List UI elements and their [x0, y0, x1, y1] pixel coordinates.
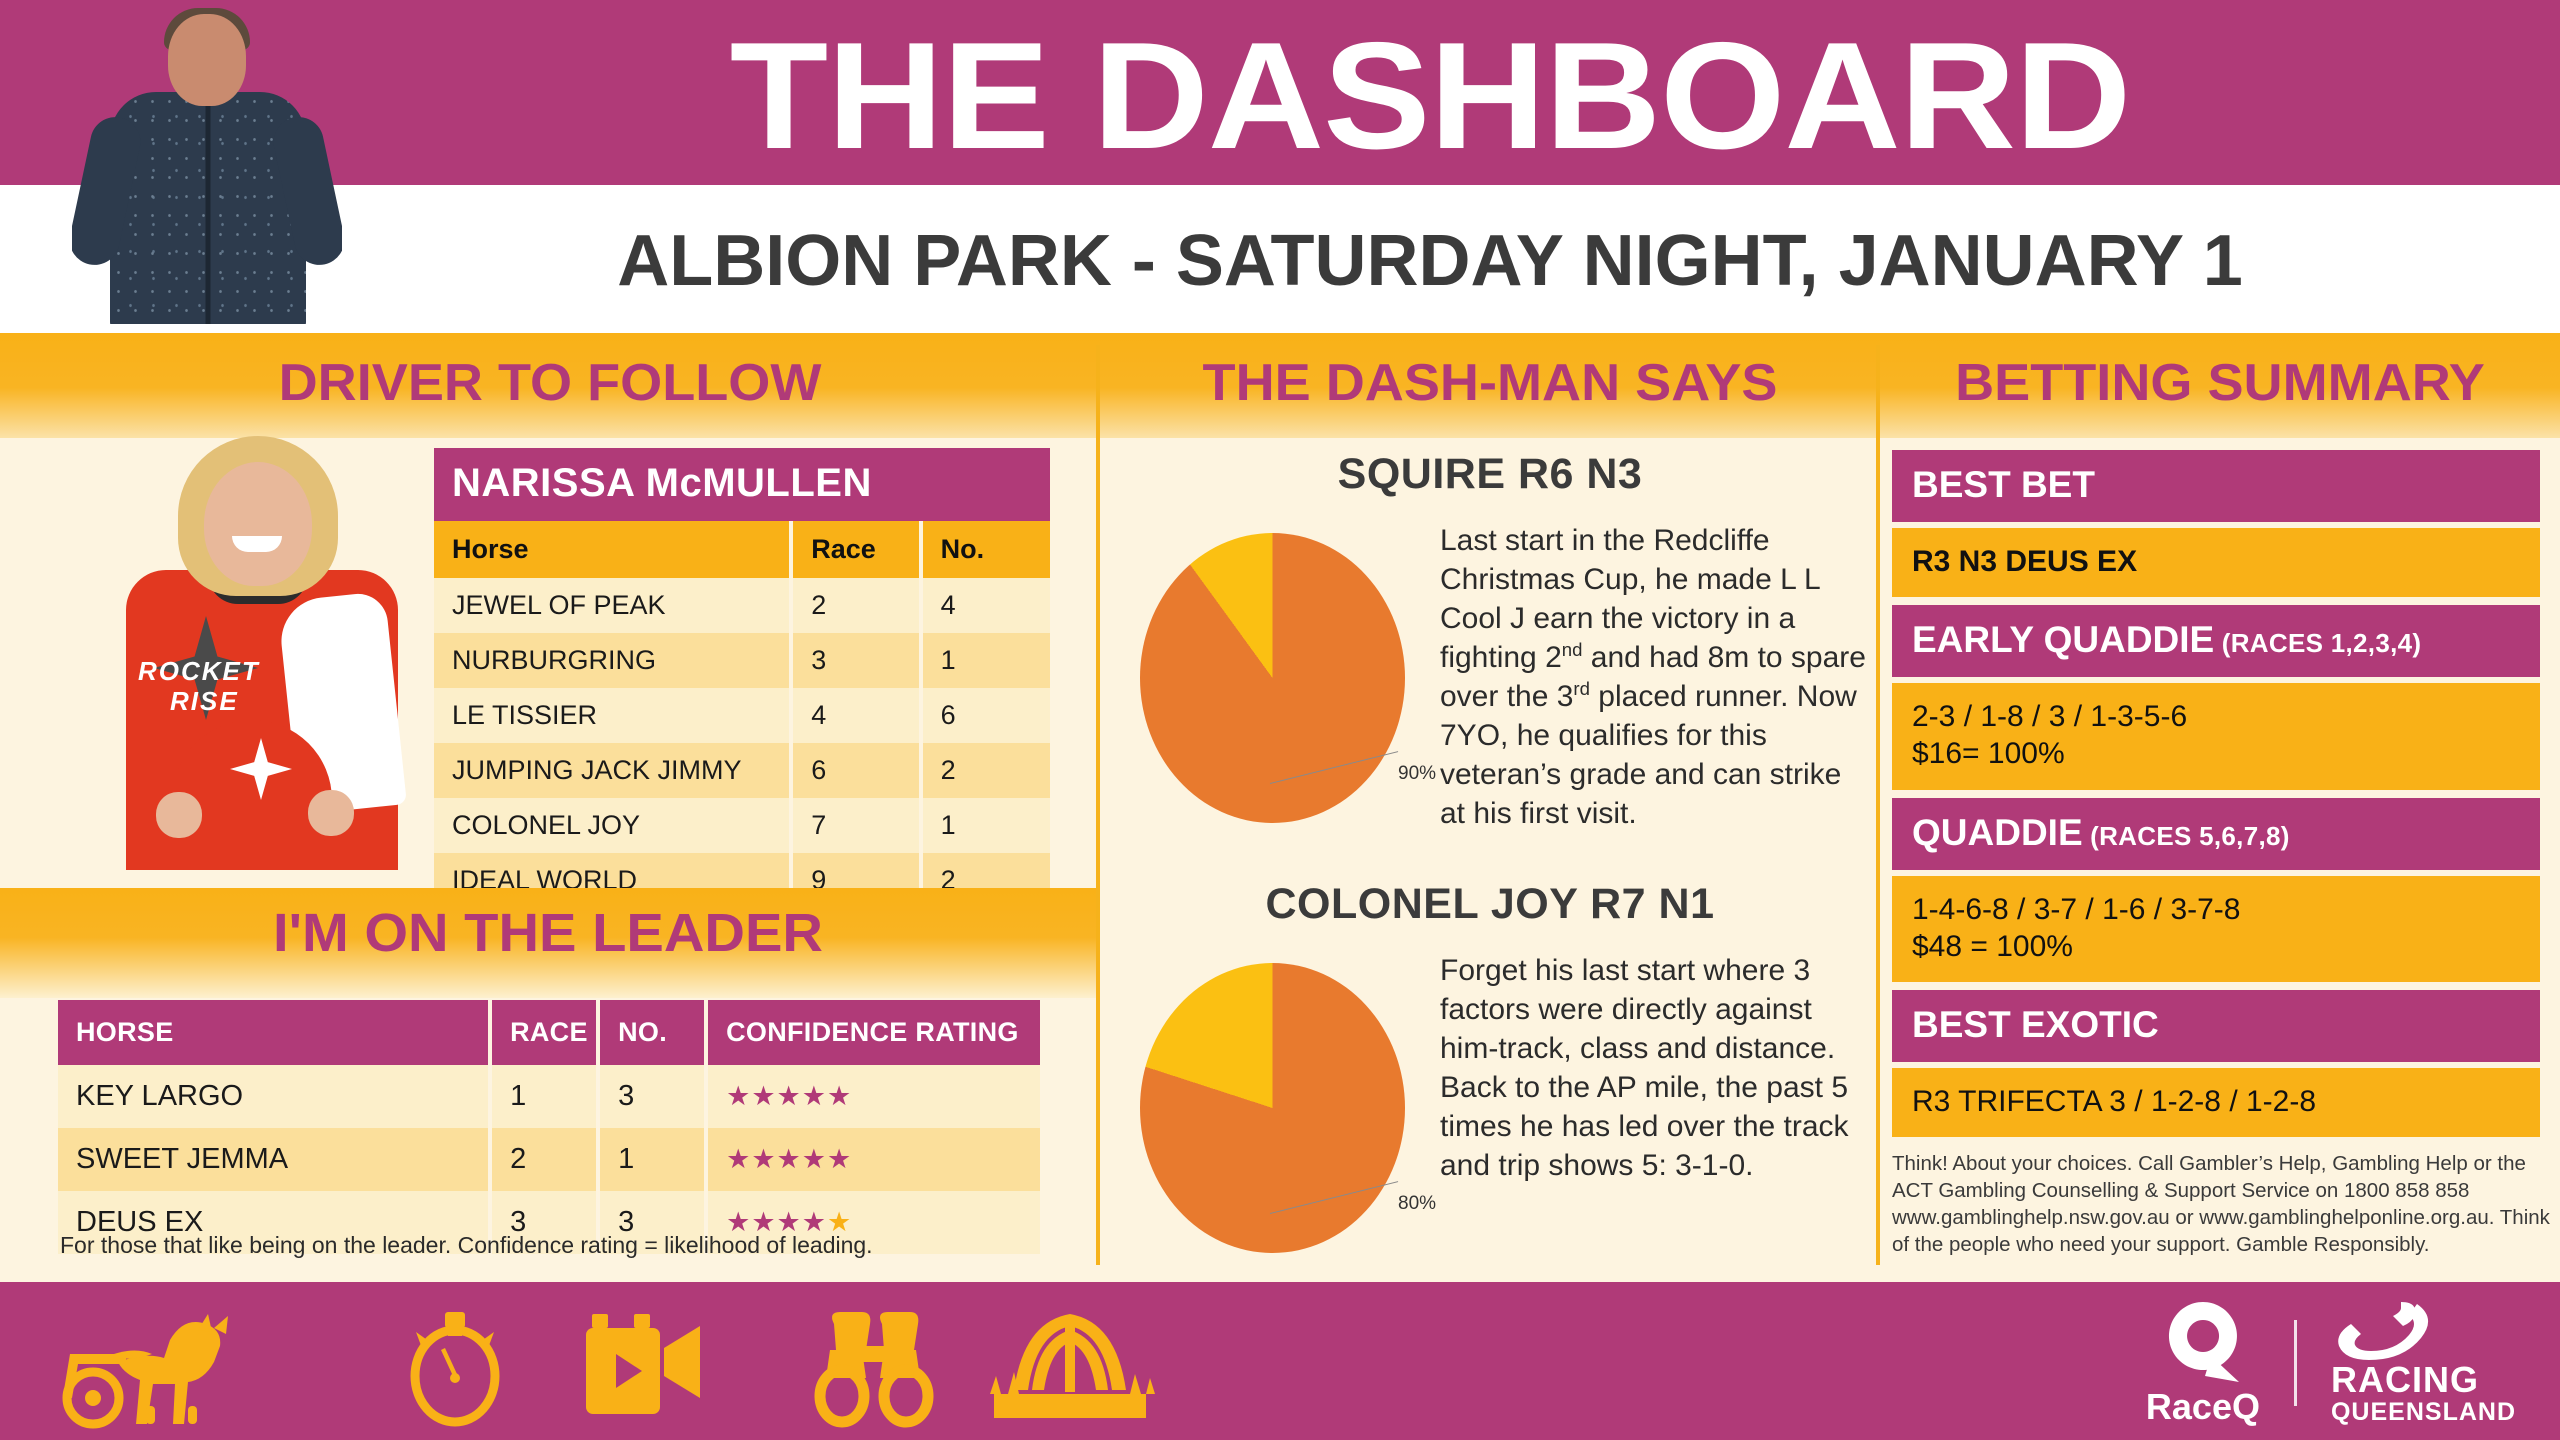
table-header-row: HORSE RACE NO. CONFIDENCE RATING	[58, 1000, 1040, 1065]
cell-race: 2	[490, 1128, 598, 1191]
video-camera-icon	[576, 1310, 726, 1430]
binoculars-icon	[800, 1310, 950, 1430]
cell-horse: SWEET JEMMA	[58, 1128, 490, 1191]
betting-block-title: EARLY QUADDIE	[1912, 619, 2214, 660]
leader-card: HORSE RACE NO. CONFIDENCE RATING KEY LAR…	[58, 1000, 1040, 1254]
cell-horse: NURBURGRING	[434, 633, 791, 688]
leader-note: For those that like being on the leader.…	[60, 1232, 1060, 1259]
star-rating: ★★★★★	[726, 1144, 852, 1174]
driver-photo: ROCKET RISE	[112, 420, 412, 870]
driver-card: NARISSA McMULLEN Horse Race No. JEWEL OF…	[434, 448, 1050, 908]
cell-no: 1	[921, 633, 1050, 688]
racing-queensland-logo: RACING QUEENSLAND	[2331, 1300, 2516, 1426]
dash-block-text: Last start in the Redcliffe Christmas Cu…	[1440, 515, 1870, 855]
dash-block-title: SQUIRE R6 N3	[1110, 450, 1870, 499]
dash-block-text: Forget his last start where 3 factors we…	[1440, 945, 1870, 1285]
sulky-horse-icon	[48, 1310, 298, 1430]
col-confidence: CONFIDENCE RATING	[706, 1000, 1040, 1065]
dash-man-block-1: SQUIRE R6 N3 90% Last start in the Redcl…	[1110, 450, 1870, 855]
silks-text-line2: RISE	[170, 686, 239, 717]
masthead-title: THE DASHBOARD	[285, 6, 2560, 186]
column-divider-right	[1876, 345, 1880, 1265]
gambling-disclaimer: Think! About your choices. Call Gambler’…	[1892, 1150, 2556, 1258]
table-row: COLONEL JOY71	[434, 798, 1050, 853]
betting-block-title: BEST BET	[1912, 464, 2095, 505]
cell-no: 4	[921, 578, 1050, 633]
betting-block-header: BEST EXOTIC	[1892, 990, 2540, 1062]
cell-no: 3	[598, 1065, 706, 1128]
col-race: RACE	[490, 1000, 598, 1065]
cell-race: 3	[791, 633, 920, 688]
table-row: JUMPING JACK JIMMY62	[434, 743, 1050, 798]
raceq-mark-icon	[2153, 1298, 2253, 1384]
dash-man-block-2: COLONEL JOY R7 N1 80% Forget his last st…	[1110, 880, 1870, 1285]
brand-logos: RaceQ RACING QUEENSLAND	[2146, 1300, 2516, 1426]
cell-no: 1	[921, 798, 1050, 853]
cell-no: 6	[921, 688, 1050, 743]
grandstand-icon	[980, 1310, 1160, 1430]
betting-block-title: QUADDIE	[1912, 812, 2083, 853]
table-row: KEY LARGO13★★★★★	[58, 1065, 1040, 1128]
betting-block-title: BEST EXOTIC	[1912, 1004, 2159, 1045]
section-title-driver-to-follow: DRIVER TO FOLLOW	[0, 342, 1122, 424]
racing-queensland-mark-icon	[2331, 1300, 2441, 1362]
pie-percent-label: 90%	[1398, 763, 1436, 785]
driver-name: NARISSA McMULLEN	[434, 448, 1050, 521]
confidence-pie-chart-1: 90%	[1110, 515, 1440, 855]
confidence-pie-chart-2: 80%	[1110, 945, 1440, 1285]
col-horse: HORSE	[58, 1000, 490, 1065]
table-row: JEWEL OF PEAK24	[434, 578, 1050, 633]
cell-race: 2	[791, 578, 920, 633]
betting-block-header: EARLY QUADDIE (RACES 1,2,3,4)	[1892, 605, 2540, 677]
cell-confidence-rating: ★★★★★	[706, 1128, 1040, 1191]
raceq-logo: RaceQ	[2146, 1298, 2260, 1428]
cell-confidence-rating: ★★★★★	[706, 1065, 1040, 1128]
betting-block-header: QUADDIE (RACES 5,6,7,8)	[1892, 798, 2540, 870]
pie-percent-label: 80%	[1398, 1193, 1436, 1215]
betting-block-header: BEST BET	[1892, 450, 2540, 522]
leader-table: HORSE RACE NO. CONFIDENCE RATING KEY LAR…	[58, 1000, 1040, 1254]
betting-block-value: R3 N3 DEUS EX	[1892, 528, 2540, 597]
meeting-subtitle: ALBION PARK - SATURDAY NIGHT, JANUARY 1	[350, 196, 2510, 326]
queensland-wordmark: QUEENSLAND	[2331, 1398, 2516, 1426]
star-rating: ★★★★★	[726, 1081, 852, 1111]
betting-block-subtitle: (RACES 1,2,3,4)	[2214, 628, 2421, 658]
betting-block-subtitle: (RACES 5,6,7,8)	[2083, 821, 2290, 851]
col-race: Race	[791, 521, 920, 578]
raceq-wordmark: RaceQ	[2146, 1386, 2260, 1428]
cell-horse: KEY LARGO	[58, 1065, 490, 1128]
betting-block-value: 1-4-6-8 / 3-7 / 1-6 / 3-7-8$48 = 100%	[1892, 876, 2540, 982]
cell-race: 7	[791, 798, 920, 853]
cell-horse: JUMPING JACK JIMMY	[434, 743, 791, 798]
cell-horse: LE TISSIER	[434, 688, 791, 743]
dash-block-title: COLONEL JOY R7 N1	[1110, 880, 1870, 929]
table-row: NURBURGRING31	[434, 633, 1050, 688]
table-row: SWEET JEMMA21★★★★★	[58, 1128, 1040, 1191]
cell-race: 1	[490, 1065, 598, 1128]
section-title-dash-man-says: THE DASH-MAN SAYS	[1084, 342, 1895, 424]
betting-summary-list: BEST BETR3 N3 DEUS EXEARLY QUADDIE (RACE…	[1892, 450, 2540, 1145]
betting-block-value: R3 TRIFECTA 3 / 1-2-8 / 1-2-8	[1892, 1068, 2540, 1137]
cell-no: 2	[921, 743, 1050, 798]
stopwatch-icon	[390, 1310, 520, 1430]
racing-wordmark: RACING	[2331, 1362, 2479, 1398]
silks-text-line1: ROCKET	[138, 656, 260, 687]
col-horse: Horse	[434, 521, 791, 578]
cell-race: 6	[791, 743, 920, 798]
logo-divider	[2294, 1320, 2297, 1406]
cell-no: 1	[598, 1128, 706, 1191]
col-no: NO.	[598, 1000, 706, 1065]
column-divider-left	[1096, 345, 1100, 1265]
cell-horse: COLONEL JOY	[434, 798, 791, 853]
dashboard-page: THE DASHBOARD ALBION PARK - SATURDAY NIG…	[0, 0, 2560, 1440]
leader-section-title: I'M ON THE LEADER	[0, 894, 1118, 972]
driver-drives-table: Horse Race No. JEWEL OF PEAK24NURBURGRIN…	[434, 521, 1050, 908]
table-header-row: Horse Race No.	[434, 521, 1050, 578]
col-no: No.	[921, 521, 1050, 578]
table-row: LE TISSIER46	[434, 688, 1050, 743]
betting-block-value: 2-3 / 1-8 / 3 / 1-3-5-6$16= 100%	[1892, 683, 2540, 789]
section-title-betting-summary: BETTING SUMMARY	[1866, 342, 2560, 424]
cell-horse: JEWEL OF PEAK	[434, 578, 791, 633]
cell-race: 4	[791, 688, 920, 743]
